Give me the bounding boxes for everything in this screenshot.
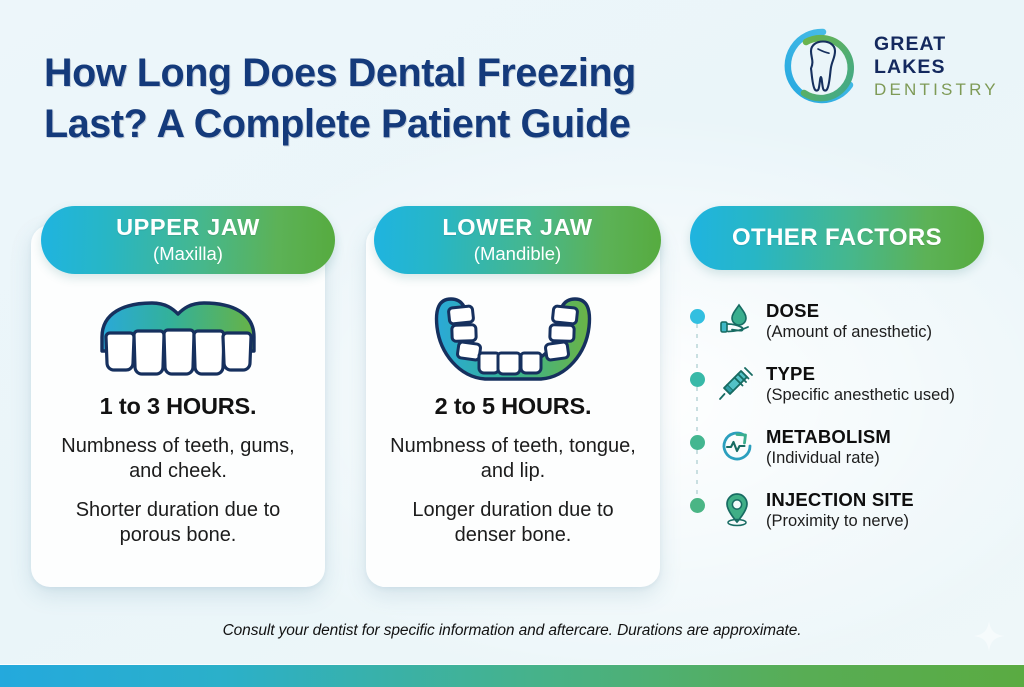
factor-sublabel: (Individual rate) [766,449,891,469]
page-header: How Long Does Dental Freezing Last? A Co… [0,0,1024,185]
upper-jaw-description-2: Shorter duration due to porous bone. [45,498,311,549]
factor-label: INJECTION SITE [766,490,914,511]
page-title-line-1: How Long Does Dental Freezing [44,48,774,99]
card-upper-jaw: 1 to 3 HOURS. Numbness of teeth, gums, a… [31,225,325,587]
factor-sublabel: (Amount of anesthetic) [766,323,932,343]
lower-jaw-illustration [366,291,660,387]
other-factors-heading: OTHER FACTORS [732,225,942,251]
other-factors-list: DOSE (Amount of anesthetic) TYPE (Specif… [690,300,990,552]
factor-label: TYPE [766,364,955,385]
upper-jaw-duration: 1 to 3 HOURS. [45,393,311,420]
factor-item-injection-site: INJECTION SITE (Proximity to nerve) [690,489,990,552]
map-pin-icon [717,489,757,529]
factor-sublabel: (Specific anesthetic used) [766,386,955,406]
upper-jaw-teeth-icon [90,293,266,385]
droplet-in-hand-icon [717,300,757,340]
upper-jaw-heading: UPPER JAW [116,215,260,240]
brand-name: GREAT LAKES [874,33,1004,79]
lower-jaw-description-1: Numbness of teeth, tongue, and lip. [380,434,646,485]
lower-jaw-duration: 2 to 5 HOURS. [380,393,646,420]
brand-logo: GREAT LAKES DENTISTRY [782,22,1004,110]
card-lower-jaw-body: 2 to 5 HOURS. Numbness of teeth, tongue,… [380,393,646,549]
factor-bullet-dot [690,498,705,513]
card-lower-jaw-header: LOWER JAW (Mandible) [374,206,661,274]
page-title: How Long Does Dental Freezing Last? A Co… [44,48,774,151]
factor-bullet-dot [690,309,705,324]
factor-text-type: TYPE (Specific anesthetic used) [766,363,955,406]
factor-label: METABOLISM [766,427,891,448]
lower-jaw-subheading: (Mandible) [474,242,561,265]
factor-text-dose: DOSE (Amount of anesthetic) [766,300,932,343]
factor-bullet-dot [690,372,705,387]
upper-jaw-subheading: (Maxilla) [153,242,223,265]
card-upper-jaw-header: UPPER JAW (Maxilla) [41,206,335,274]
lower-jaw-description-2: Longer duration due to denser bone. [380,498,646,549]
tooth-in-circle-icon [782,25,864,107]
factor-item-metabolism: METABOLISM (Individual rate) [690,426,990,489]
factor-bullet-dot [690,435,705,450]
bottom-accent-bar [0,665,1024,687]
brand-tagline: DENTISTRY [874,79,1004,101]
upper-jaw-illustration [31,291,325,387]
other-factors-header: OTHER FACTORS [690,206,984,270]
upper-jaw-description-1: Numbness of teeth, gums, and cheek. [45,434,311,485]
factor-label: DOSE [766,301,932,322]
factor-sublabel: (Proximity to nerve) [766,512,914,532]
page-title-line-2: Last? A Complete Patient Guide [44,99,774,150]
card-upper-jaw-body: 1 to 3 HOURS. Numbness of teeth, gums, a… [45,393,311,549]
card-lower-jaw: 2 to 5 HOURS. Numbness of teeth, tongue,… [366,225,660,587]
factor-text-metabolism: METABOLISM (Individual rate) [766,426,891,469]
lower-jaw-teeth-icon [425,291,601,387]
factor-item-type: TYPE (Specific anesthetic used) [690,363,990,426]
factor-text-injection-site: INJECTION SITE (Proximity to nerve) [766,489,914,532]
syringe-icon [717,363,757,403]
footer-disclaimer: Consult your dentist for specific inform… [0,622,1024,640]
brand-logo-text: GREAT LAKES DENTISTRY [874,31,1004,101]
factor-item-dose: DOSE (Amount of anesthetic) [690,300,990,363]
lower-jaw-heading: LOWER JAW [442,215,592,240]
metabolism-refresh-heartbeat-icon [717,426,757,466]
